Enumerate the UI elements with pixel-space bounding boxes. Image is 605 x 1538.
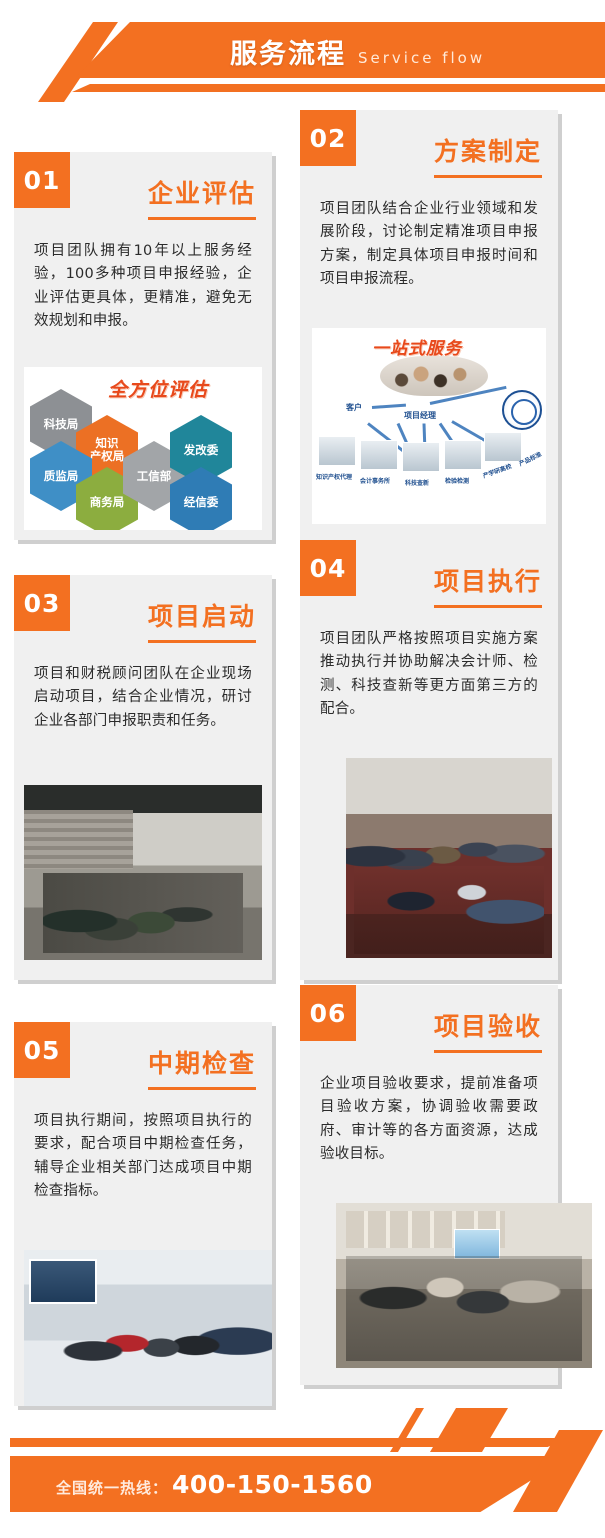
step-number-badge: 05 xyxy=(14,1022,70,1078)
one-stop-node-search xyxy=(402,442,440,472)
one-stop-service-label: 会计事务所 xyxy=(360,476,390,485)
one-stop-hero-photo xyxy=(380,356,488,396)
step-description: 项目团队结合企业行业领域和发展阶段，讨论制定精准项目申报方案，制定具体项目申报时… xyxy=(320,198,538,292)
step-number-badge: 06 xyxy=(300,985,356,1041)
one-stop-service-label: 科技查新 xyxy=(405,478,429,487)
hotline-number: 400-150-1560 xyxy=(172,1470,373,1499)
step-card-04: 04 项目执行 项目团队严格按照项目实施方案推动执行并协助解决会计师、检测、科技… xyxy=(300,540,558,980)
step-card-02: 02 方案制定 项目团队结合企业行业领域和发展阶段，讨论制定精准项目申报方案，制… xyxy=(300,110,558,540)
step-number-badge: 03 xyxy=(14,575,70,631)
step-description: 项目和财税顾问团队在企业现场启动项目，结合企业情况，研讨企业各部门申报职责和任务… xyxy=(34,663,252,733)
step-description: 项目团队严格按照项目实施方案推动执行并协助解决会计师、检测、科技查新等更方面第三… xyxy=(320,628,538,722)
one-stop-service-label: 产学研高校 xyxy=(481,461,512,480)
one-stop-node-university xyxy=(484,432,522,462)
one-stop-center-label: 项目经理 xyxy=(404,410,436,421)
step-title: 项目验收 xyxy=(434,1007,542,1053)
one-stop-node-ip xyxy=(318,436,356,466)
page-title-cn: 服务流程 xyxy=(230,32,346,71)
step-description: 企业项目验收要求，提前准备项目验收方案，协调验收需要政府、审计等的各方面资源，达… xyxy=(320,1073,538,1167)
footer-hotline-bar: 全国统一热线： 400-150-1560 xyxy=(0,1430,605,1538)
header-stripe-shape xyxy=(72,84,605,92)
hex-node-label-2: 知识产权局 xyxy=(90,437,125,463)
one-stop-service-label: 检验检测 xyxy=(445,476,469,485)
step-title: 项目启动 xyxy=(148,597,256,643)
footer-stripe-shape xyxy=(10,1438,570,1447)
one-stop-node-testing xyxy=(444,440,482,470)
one-stop-service-diagram: 一站式服务 客户 项目经理 知识产权代理 会计事务所 科技查新 检验检测 产学研… xyxy=(312,328,546,524)
one-stop-client-label: 客户 xyxy=(346,402,362,413)
photo-meeting-room xyxy=(24,785,262,960)
photo-laptop-meeting xyxy=(346,758,552,958)
step-number-badge: 04 xyxy=(300,540,356,596)
one-stop-node-accounting xyxy=(360,440,398,470)
page-title-en: Service flow xyxy=(358,49,485,67)
step-title: 项目执行 xyxy=(434,562,542,608)
photo-acceptance-conference xyxy=(336,1203,592,1368)
step-title: 方案制定 xyxy=(434,132,542,178)
one-stop-service-label: 知识产权代理 xyxy=(316,472,352,481)
arrow-client xyxy=(372,404,406,409)
header-banner: 服务流程 Service flow xyxy=(0,0,605,110)
page-title: 服务流程 Service flow xyxy=(230,32,485,71)
hotline: 全国统一热线： 400-150-1560 xyxy=(56,1470,373,1499)
step-title: 中期检查 xyxy=(148,1044,256,1090)
infographic-page: 服务流程 Service flow 01 企业评估 项目团队拥有10年以上服务经… xyxy=(0,0,605,1538)
hexagon-diagram-title: 全方位评估 xyxy=(108,375,208,402)
step-card-01: 01 企业评估 项目团队拥有10年以上服务经验，100多种项目申报经验，企业评估… xyxy=(14,152,272,540)
step-card-05: 05 中期检查 项目执行期间，按照项目执行的要求，配合项目中期检查任务，辅导企业… xyxy=(14,1022,272,1406)
step-description: 项目团队拥有10年以上服务经验，100多种项目申报经验，企业评估更具体，更精准，… xyxy=(34,240,252,334)
projector-screen xyxy=(454,1229,500,1259)
step-card-06: 06 项目验收 企业项目验收要求，提前准备项目验收方案，协调验收需要政府、审计等… xyxy=(300,985,558,1385)
step-number-badge: 02 xyxy=(300,110,356,166)
hexagon-assessment-diagram: 全方位评估 科技局 知识产权局 质监局 商务局 工信部 发改委 经信委 xyxy=(24,367,262,530)
step-description: 项目执行期间，按照项目执行的要求，配合项目中期检查任务，辅导企业相关部门达成项目… xyxy=(34,1110,252,1204)
step-number-badge: 01 xyxy=(14,152,70,208)
photo-showroom-tour xyxy=(24,1250,272,1406)
hotline-label: 全国统一热线： xyxy=(56,1477,168,1498)
step-title: 企业评估 xyxy=(148,174,256,220)
step-card-03: 03 项目启动 项目和财税顾问团队在企业现场启动项目，结合企业情况，研讨企业各部… xyxy=(14,575,272,980)
certification-seal-icon xyxy=(502,390,542,430)
